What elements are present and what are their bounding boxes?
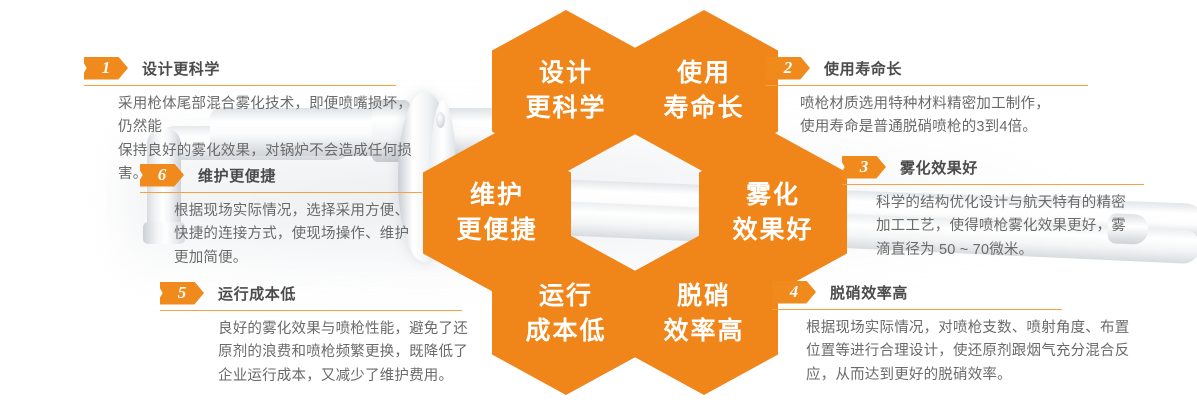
- info-head-denitration: 4脱硝效率高: [772, 280, 1152, 304]
- infographic-canvas: 设计更科学使用寿命长维护更便捷雾化效果好运行成本低脱硝效率高 1设计更科学采用枪…: [0, 0, 1197, 413]
- number-badge-denitration: 4: [772, 281, 816, 304]
- info-head-maintenance: 6维护更便捷: [140, 163, 440, 187]
- info-block-lifespan[interactable]: 2使用寿命长喷枪材质选用特种材料精密加工制作， 使用寿命是普通脱硝喷枪的3到4倍…: [766, 56, 1106, 140]
- info-body-maintenance: 根据现场实际情况，选择采用方便、 快捷的连接方式，使现场操作、维护 更加简便。: [140, 200, 440, 270]
- hex-maintenance-line1: 维护: [470, 178, 524, 214]
- number-badge-design: 1: [84, 57, 128, 80]
- info-rule-maintenance: [140, 192, 422, 193]
- spray-gun-flange-bolt: [436, 112, 445, 128]
- hex-denitration-line2: 效率高: [663, 314, 744, 350]
- info-title-atomization: 雾化效果好: [900, 157, 978, 178]
- info-block-denitration[interactable]: 4脱硝效率高根据现场实际情况，对喷枪支数、喷射角度、布置 位置等进行合理设计，使…: [772, 280, 1152, 387]
- hex-cost-line2: 成本低: [525, 314, 606, 350]
- info-block-atomization[interactable]: 3雾化效果好科学的结构优化设计与航天特有的精密 加工工艺，使得喷枪雾化效果更好，…: [842, 155, 1162, 262]
- info-body-atomization: 科学的结构优化设计与航天特有的精密 加工工艺，使得喷枪雾化效果更好，雾 滴直径为…: [842, 192, 1162, 262]
- info-title-denitration: 脱硝效率高: [830, 282, 908, 303]
- info-rule-cost: [160, 310, 462, 311]
- hex-lifespan-line2: 寿命长: [663, 91, 744, 127]
- hex-atomization-line2: 效果好: [732, 213, 813, 249]
- number-badge-lifespan: 2: [766, 57, 810, 80]
- number-badge-cost: 5: [160, 282, 204, 305]
- info-head-atomization: 3雾化效果好: [842, 155, 1162, 179]
- hex-design-line2: 更科学: [525, 91, 606, 127]
- info-title-maintenance: 维护更便捷: [198, 165, 276, 186]
- info-block-maintenance[interactable]: 6维护更便捷根据现场实际情况，选择采用方便、 快捷的连接方式，使现场操作、维护 …: [140, 163, 440, 270]
- hex-atomization-line1: 雾化: [746, 178, 800, 214]
- number-badge-maintenance: 6: [140, 164, 184, 187]
- hex-lifespan-line1: 使用: [677, 56, 731, 92]
- info-head-cost: 5运行成本低: [160, 281, 480, 305]
- hex-maintenance-line2: 更便捷: [456, 213, 537, 249]
- info-head-design: 1设计更科学: [84, 56, 414, 80]
- info-head-lifespan: 2使用寿命长: [766, 56, 1106, 80]
- hex-cost-line1: 运行: [539, 279, 593, 315]
- info-title-lifespan: 使用寿命长: [824, 58, 902, 79]
- info-body-lifespan: 喷枪材质选用特种材料精密加工制作， 使用寿命是普通脱硝喷枪的3到4倍。: [766, 93, 1106, 140]
- info-title-design: 设计更科学: [142, 58, 220, 79]
- info-block-cost[interactable]: 5运行成本低良好的雾化效果与喷枪性能，避免了还 原剂的浪费和喷枪频繁更换，既降低…: [160, 281, 480, 388]
- info-rule-atomization: [842, 184, 1144, 185]
- hex-denitration-line1: 脱硝: [677, 279, 731, 315]
- info-title-cost: 运行成本低: [218, 283, 296, 304]
- info-rule-design: [84, 85, 396, 86]
- info-body-denitration: 根据现场实际情况，对喷枪支数、喷射角度、布置 位置等进行合理设计，使还原剂跟烟气…: [772, 317, 1152, 387]
- info-body-cost: 良好的雾化效果与喷枪性能，避免了还 原剂的浪费和喷枪频繁更换，既降低了 企业运行…: [160, 318, 480, 388]
- hex-design-line1: 设计: [539, 56, 593, 92]
- number-badge-atomization: 3: [842, 156, 886, 179]
- info-rule-denitration: [772, 309, 1062, 310]
- info-rule-lifespan: [766, 85, 1088, 86]
